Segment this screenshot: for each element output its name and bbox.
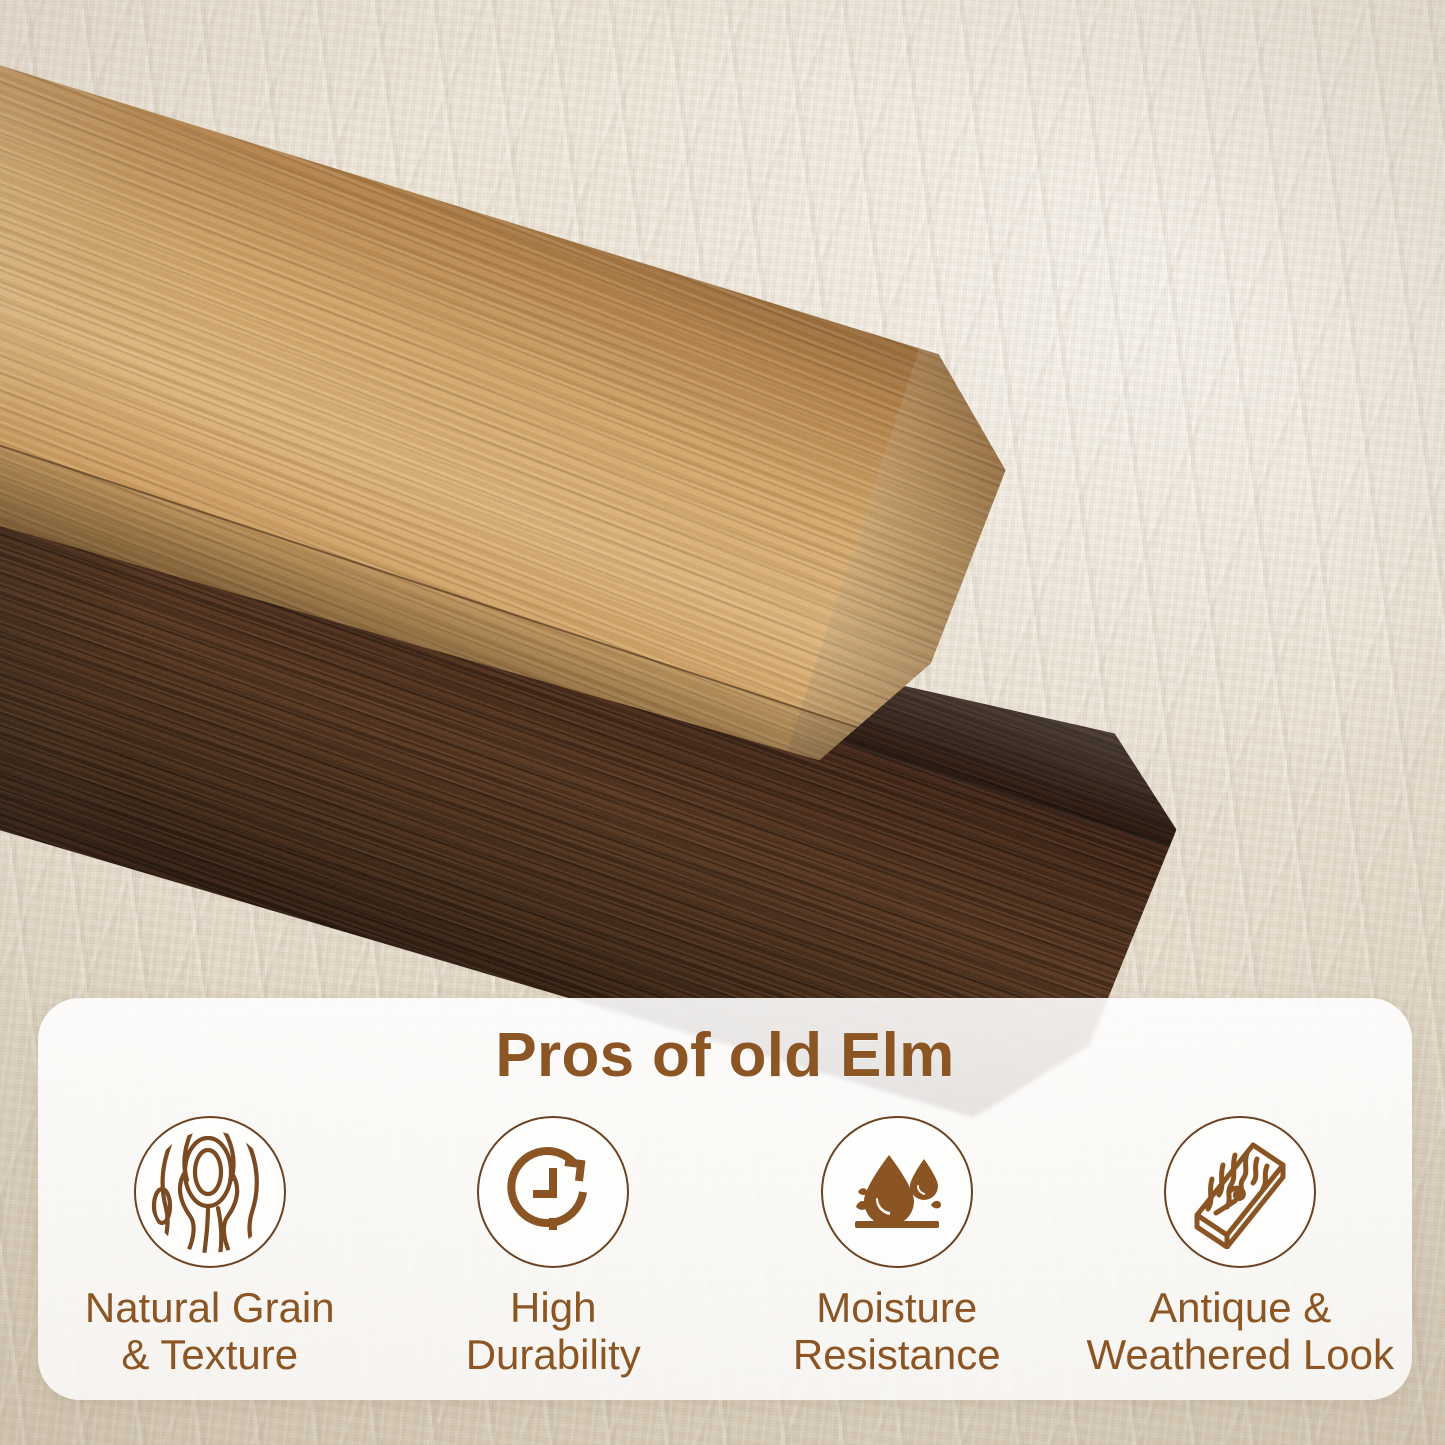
feature-high-durability: High Durability xyxy=(382,1116,726,1378)
product-image: Pros of old Elm xyxy=(0,0,1445,1445)
pros-info-panel: Pros of old Elm xyxy=(38,998,1412,1400)
clock-rotate-icon xyxy=(477,1116,629,1268)
feature-label: Antique & Weathered Look xyxy=(1087,1284,1394,1378)
feature-antique-weathered: Antique & Weathered Look xyxy=(1069,1116,1413,1378)
feature-moisture-resistance: Moisture Resistance xyxy=(725,1116,1069,1378)
water-droplet-icon xyxy=(821,1116,973,1268)
wood-plank-icon xyxy=(1164,1116,1316,1268)
feature-label: Natural Grain & Texture xyxy=(85,1284,335,1378)
feature-list: Natural Grain & Texture High Durability xyxy=(38,1116,1412,1388)
feature-label: High Durability xyxy=(466,1284,641,1378)
feature-label: Moisture Resistance xyxy=(793,1284,1001,1378)
panel-title: Pros of old Elm xyxy=(38,1020,1412,1091)
feature-natural-grain: Natural Grain & Texture xyxy=(38,1116,382,1378)
wood-grain-icon xyxy=(134,1116,286,1268)
